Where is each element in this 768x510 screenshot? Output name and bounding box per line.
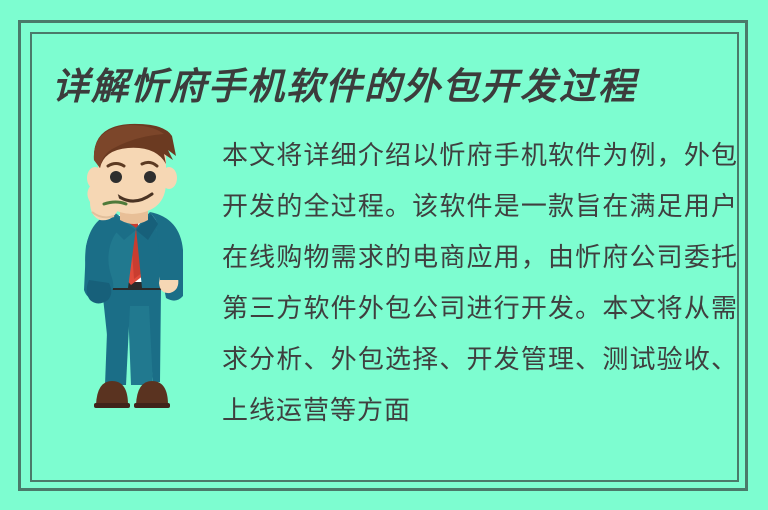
- businessman-illustration: [56, 120, 206, 425]
- shoe-sole-left: [94, 403, 130, 408]
- trouser-leg-left: [105, 306, 130, 385]
- article-banner: 详解忻府手机软件的外包开发过程 本文将详细介绍以忻府手机软件为例，外包开发的全过…: [0, 0, 768, 510]
- trouser-leg-right: [128, 306, 153, 385]
- pocket-right: [160, 266, 182, 280]
- shoe-sole-right: [134, 403, 170, 408]
- article-body-text: 本文将详细介绍以忻府手机软件为例，外包开发的全过程。该软件是一款旨在满足用户在线…: [222, 131, 738, 431]
- eye-left: [110, 171, 122, 183]
- article-title: 详解忻府手机软件的外包开发过程: [52, 62, 712, 110]
- sleeve-cuff-left: [87, 280, 112, 304]
- eye-right: [144, 171, 156, 183]
